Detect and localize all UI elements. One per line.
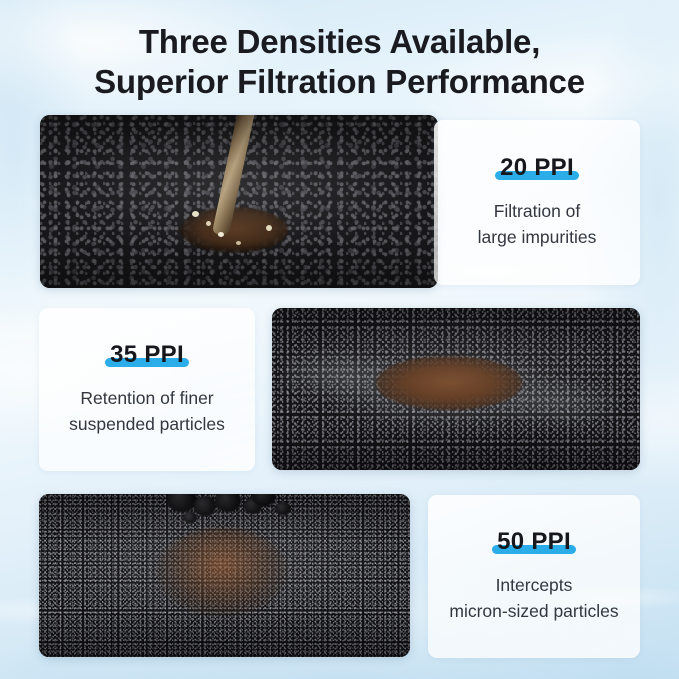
feature-card-50ppi: 50 PPI Intercepts micron-sized particles [428, 495, 640, 658]
photo-vignette [40, 115, 438, 288]
feature-card-35ppi: 35 PPI Retention of finer suspended part… [39, 308, 255, 471]
ppi-badge-20: 20 PPI [500, 155, 574, 181]
title-line-1: Three Densities Available, [0, 22, 679, 62]
foam-photo-50ppi [39, 494, 410, 657]
ppi-badge-50: 50 PPI [497, 529, 571, 555]
ppi-label: 20 PPI [500, 155, 574, 181]
description-line-1: Intercepts [496, 572, 573, 598]
infographic-canvas: Three Densities Available, Superior Filt… [0, 0, 679, 679]
description-line-1: Retention of finer [80, 385, 213, 411]
feature-row-20ppi: 20 PPI Filtration of large impurities [0, 113, 679, 289]
description-line-2: micron-sized particles [449, 598, 618, 624]
description-line-2: suspended particles [69, 411, 225, 437]
ppi-badge-35: 35 PPI [110, 342, 184, 368]
description-line-1: Filtration of [494, 198, 581, 224]
ppi-label: 35 PPI [110, 342, 184, 368]
ppi-label: 50 PPI [497, 529, 571, 555]
feature-card-20ppi: 20 PPI Filtration of large impurities [434, 120, 640, 285]
foam-photo-20ppi [40, 115, 438, 288]
feature-row-35ppi: 35 PPI Retention of finer suspended part… [0, 306, 679, 472]
photo-vignette [272, 308, 640, 470]
photo-vignette [39, 494, 410, 657]
description-line-2: large impurities [478, 224, 597, 250]
title-line-2: Superior Filtration Performance [0, 62, 679, 102]
foam-photo-35ppi [272, 308, 640, 470]
page-title: Three Densities Available, Superior Filt… [0, 22, 679, 102]
feature-row-50ppi: 50 PPI Intercepts micron-sized particles [0, 492, 679, 658]
